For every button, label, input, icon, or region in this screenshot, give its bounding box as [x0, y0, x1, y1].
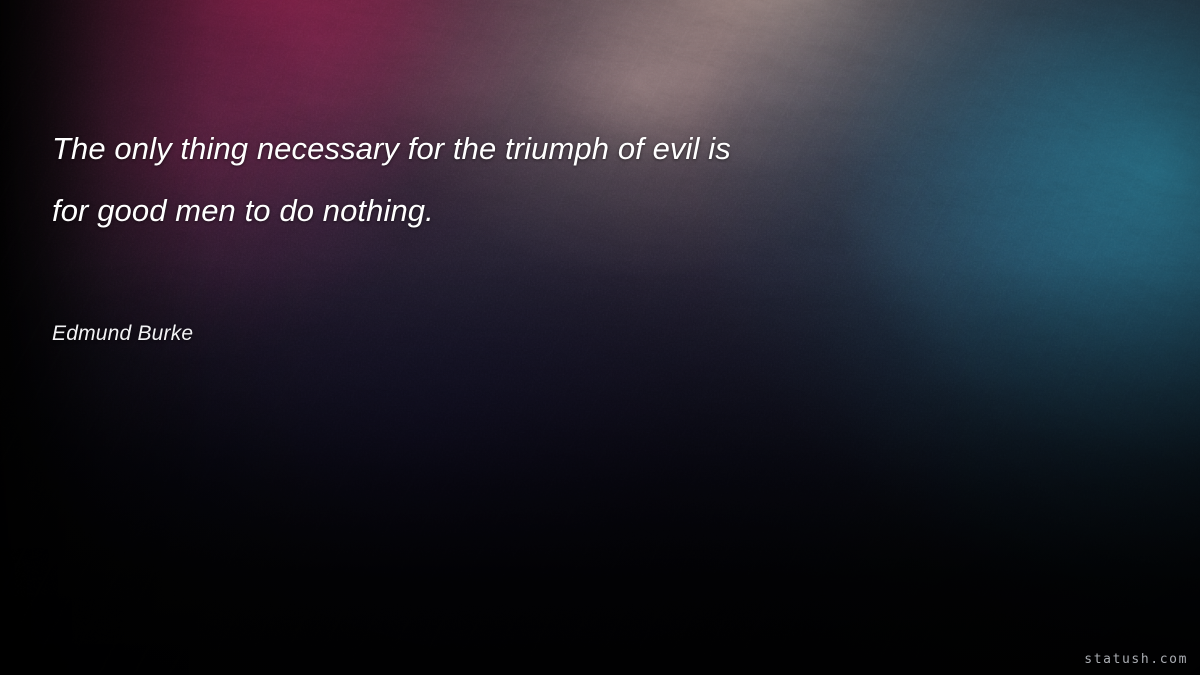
quote-author: Edmund Burke [52, 322, 193, 346]
quote-image-canvas: The only thing necessary for the triumph… [0, 0, 1200, 675]
quote-content: The only thing necessary for the triumph… [0, 0, 1200, 675]
quote-text: The only thing necessary for the triumph… [52, 118, 992, 242]
site-watermark: statush.com [1084, 652, 1188, 667]
